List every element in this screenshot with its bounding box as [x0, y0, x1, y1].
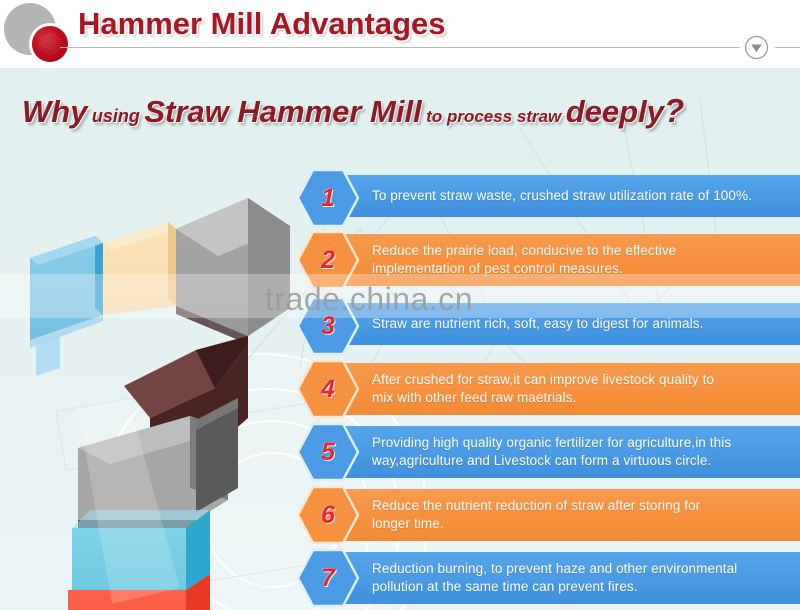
- advantage-bar[interactable]: Reduction burning, to prevent haze and o…: [322, 552, 800, 604]
- advantage-line: way,agriculture and Livestock can form a…: [372, 452, 731, 470]
- advantage-number: 5: [321, 440, 335, 465]
- advantage-line: Reduction burning, to prevent haze and o…: [372, 560, 737, 578]
- advantage-bar[interactable]: After crushed for straw,it can improve l…: [322, 363, 800, 415]
- advantage-text: Reduce the nutrient reduction of straw a…: [372, 497, 700, 533]
- advantage-bar[interactable]: Reduce the nutrient reduction of straw a…: [322, 489, 800, 541]
- advantage-number-badge: 6: [296, 485, 360, 545]
- red-circle-logo-icon: [32, 26, 68, 62]
- advantage-number: 2: [321, 248, 335, 273]
- advantage-text: Reduction burning, to prevent haze and o…: [372, 560, 737, 596]
- page-root: Hammer Mill Advantages: [0, 0, 800, 610]
- advantage-number: 1: [321, 186, 335, 211]
- advantage-text: Reduce the prairie load, conducive to th…: [372, 242, 676, 278]
- page-title: Hammer Mill Advantages: [78, 6, 446, 42]
- advantage-line: pollution at the same time can prevent f…: [372, 578, 737, 596]
- site-watermark: trade.china.cn: [265, 281, 473, 318]
- advantage-number-badge: 5: [296, 422, 360, 482]
- advantage-bar[interactable]: To prevent straw waste, crushed straw ut…: [322, 175, 800, 217]
- advantage-number-badge: 1: [296, 168, 360, 228]
- advantages-banner: Why using Straw Hammer Mill to process s…: [0, 68, 800, 610]
- advantage-number-badge: 7: [296, 548, 360, 608]
- advantage-text: After crushed for straw,it can improve l…: [372, 371, 714, 407]
- advantage-line: Providing high quality organic fertilize…: [372, 434, 731, 452]
- advantage-line: To prevent straw waste, crushed straw ut…: [372, 187, 752, 205]
- advantage-line: longer time.: [372, 515, 700, 533]
- header-divider: [60, 47, 740, 48]
- advantage-number-badge: 4: [296, 359, 360, 419]
- advantage-line: Reduce the nutrient reduction of straw a…: [372, 497, 700, 515]
- advantages-list: To prevent straw waste, crushed straw ut…: [0, 68, 800, 610]
- advantage-number: 7: [321, 566, 335, 591]
- advantage-bar[interactable]: Providing high quality organic fertilize…: [322, 426, 800, 478]
- advantage-line: After crushed for straw,it can improve l…: [372, 371, 714, 389]
- advantage-text: To prevent straw waste, crushed straw ut…: [372, 187, 752, 205]
- header-divider-right: [775, 47, 800, 48]
- advantage-number: 6: [321, 503, 335, 528]
- advantage-number: 3: [321, 314, 335, 339]
- advantage-line: mix with other feed raw maetrials.: [372, 389, 714, 407]
- advantage-line: Reduce the prairie load, conducive to th…: [372, 242, 676, 260]
- chevron-down-circle-icon[interactable]: [742, 33, 771, 62]
- advantage-text: Providing high quality organic fertilize…: [372, 434, 731, 470]
- page-header: Hammer Mill Advantages: [0, 0, 800, 68]
- advantage-number: 4: [321, 377, 335, 402]
